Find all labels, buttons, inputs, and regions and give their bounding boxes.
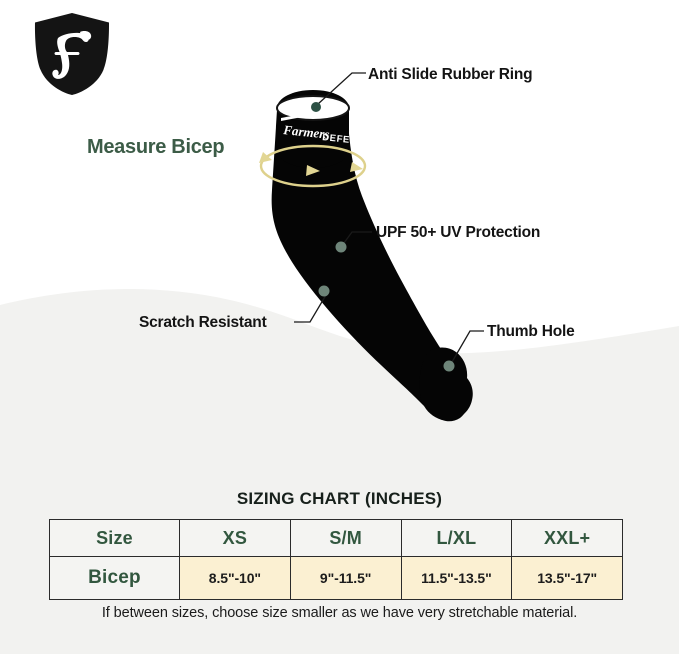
sleeve-body <box>272 90 473 421</box>
table-header-xs: XS <box>180 520 291 557</box>
leader-line-scratch <box>294 295 326 322</box>
table-cell-bicep-sm: 9"-11.5" <box>290 557 401 600</box>
table-header-row: Size XS S/M L/XL XXL+ <box>50 520 623 557</box>
callout-anti-slide-rubber-ring: Anti Slide Rubber Ring <box>368 66 532 84</box>
measure-ring-arrowheads <box>259 152 363 176</box>
table-cell-bicep-xxl: 13.5"-17" <box>512 557 623 600</box>
brand-logo-shield <box>28 8 116 100</box>
dot-anti-slide <box>311 102 321 112</box>
table-cell-bicep-lxl: 11.5"-13.5" <box>401 557 512 600</box>
sizing-chart-title: SIZING CHART (INCHES) <box>0 489 679 509</box>
sizing-chart-table: Size XS S/M L/XL XXL+ Bicep 8.5"-10" 9"-… <box>49 519 623 600</box>
leader-line-thumb <box>452 331 484 362</box>
table-header-xxl: XXL+ <box>512 520 623 557</box>
dot-thumb <box>444 361 455 372</box>
table-header-sm: S/M <box>290 520 401 557</box>
leader-line-anti-slide <box>318 73 366 104</box>
leader-line-upf <box>344 232 372 243</box>
sizing-infographic: Farmers DEFENSE Anti Slide Rubber Ring U… <box>0 0 679 654</box>
table-row-label-bicep: Bicep <box>50 557 180 600</box>
svg-text:Farmers: Farmers <box>282 122 331 142</box>
callout-upf-protection: UPF 50+ UV Protection <box>376 224 540 242</box>
callout-thumb-hole: Thumb Hole <box>487 323 575 341</box>
measure-ring <box>261 146 365 186</box>
callout-scratch-resistant: Scratch Resistant <box>139 314 267 332</box>
table-header-size: Size <box>50 520 180 557</box>
cuff-brand-text: Farmers DEFENSE <box>281 114 372 148</box>
table-header-lxl: L/XL <box>401 520 512 557</box>
callout-measure-bicep: Measure Bicep <box>87 136 224 159</box>
svg-text:DEFENSE: DEFENSE <box>322 132 372 148</box>
dot-scratch <box>319 286 330 297</box>
sizing-chart-note: If between sizes, choose size smaller as… <box>0 605 679 621</box>
dot-upf <box>336 242 347 253</box>
table-cell-bicep-xs: 8.5"-10" <box>180 557 291 600</box>
table-row: Bicep 8.5"-10" 9"-11.5" 11.5"-13.5" 13.5… <box>50 557 623 600</box>
